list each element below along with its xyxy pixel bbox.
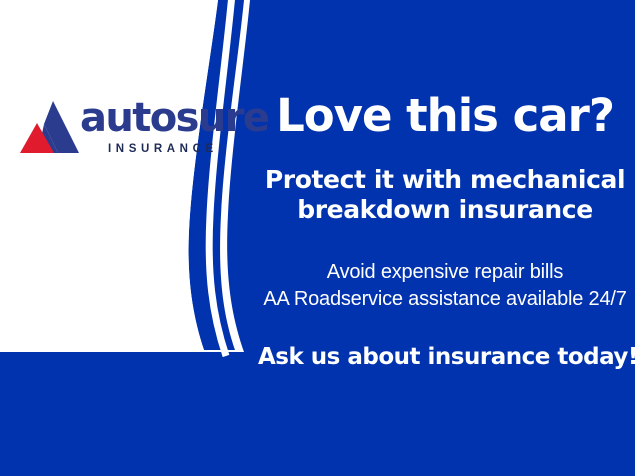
autosure-wordmark: autosure [80,96,230,140]
benefit-item: AA Roadservice assistance available 24/7 [258,286,632,313]
subheadline-line-1: Protect it with mechanical [265,165,625,194]
benefit-item: Avoid expensive repair bills [258,259,632,286]
headline: Love this car? [258,90,632,142]
subheadline-line-2: breakdown insurance [297,195,593,224]
benefits-list: Avoid expensive repair bills AA Roadserv… [258,259,632,313]
autosure-wordmark-group: autosure INSURANCE [80,96,230,156]
subheadline: Protect it with mechanical breakdown ins… [258,165,632,225]
banner-copy: Love this car? Protect it with mechanica… [258,90,632,371]
autosure-logo: autosure INSURANCE [18,96,233,166]
call-to-action: Ask us about insurance today! [258,343,632,371]
autosure-insurance-banner: autosure INSURANCE Love this car? Protec… [0,0,635,476]
autosure-tagline: INSURANCE [108,142,230,156]
white-field-shape [0,0,218,350]
autosure-triangle-mark-icon [18,99,80,155]
